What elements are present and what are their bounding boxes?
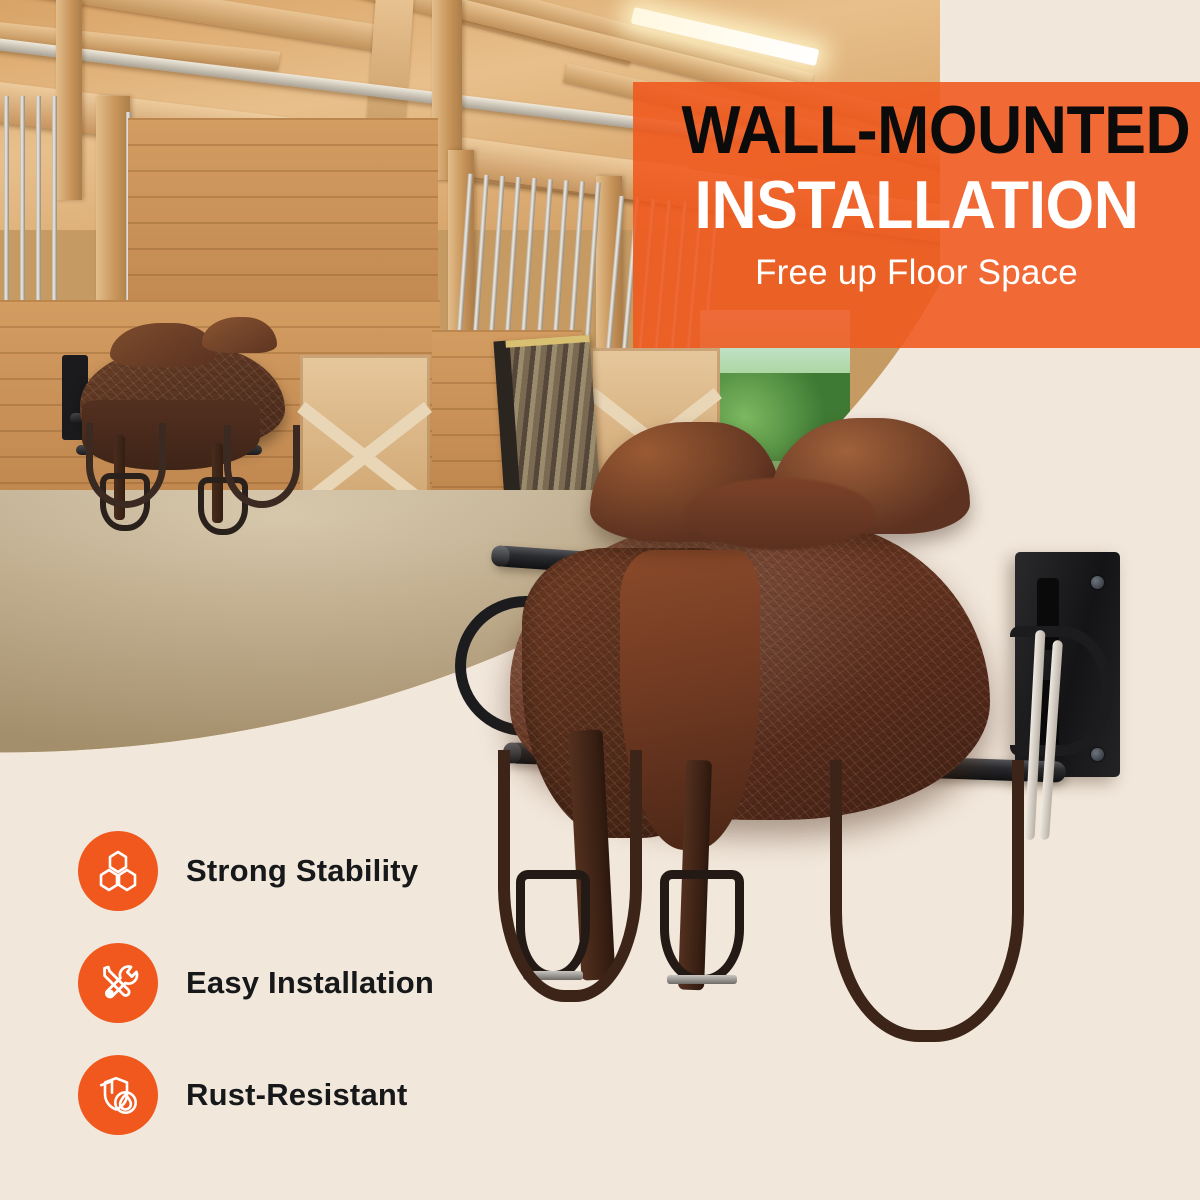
- feature-icon-badge: [78, 943, 158, 1023]
- headline-subtitle: Free up Floor Space: [661, 253, 1172, 293]
- inset-saddle-on-wall: [62, 305, 292, 520]
- shield-droplet-icon: [95, 1072, 141, 1118]
- stirrup: [660, 870, 744, 984]
- feature-list: Strong Stability Easy Installation: [78, 815, 598, 1151]
- mini-girth-loop: [224, 425, 300, 508]
- feature-label: Strong Stability: [186, 853, 418, 889]
- feature-label: Rust-Resistant: [186, 1077, 408, 1113]
- headline-banner: WALL-MOUNTED INSTALLATION Free up Floor …: [633, 82, 1200, 348]
- feature-icon-badge: [78, 831, 158, 911]
- wrench-screwdriver-icon: [95, 960, 141, 1006]
- mounting-screw-icon: [1091, 576, 1104, 589]
- mini-saddle-cantle: [202, 317, 277, 353]
- feature-icon-badge: [78, 1055, 158, 1135]
- feature-label: Easy Installation: [186, 965, 434, 1001]
- feature-item: Easy Installation: [78, 927, 598, 1039]
- product-marketing-banner: WALL-MOUNTED INSTALLATION Free up Floor …: [0, 0, 1200, 1200]
- girth-loop: [830, 760, 1024, 1042]
- headline-top: WALL-MOUNTED: [681, 96, 1151, 165]
- feature-item: Rust-Resistant: [78, 1039, 598, 1151]
- stall-bars: [0, 96, 60, 326]
- stall-bars: [454, 173, 606, 352]
- mounting-screw-icon: [1091, 748, 1104, 761]
- honeycomb-hexagons-icon: [95, 848, 141, 894]
- saddle-seat-dip: [685, 478, 875, 550]
- headline-bottom: INSTALLATION: [681, 171, 1151, 240]
- feature-item: Strong Stability: [78, 815, 598, 927]
- mini-saddle-pommel: [110, 323, 215, 367]
- mini-girth-loop: [86, 423, 166, 508]
